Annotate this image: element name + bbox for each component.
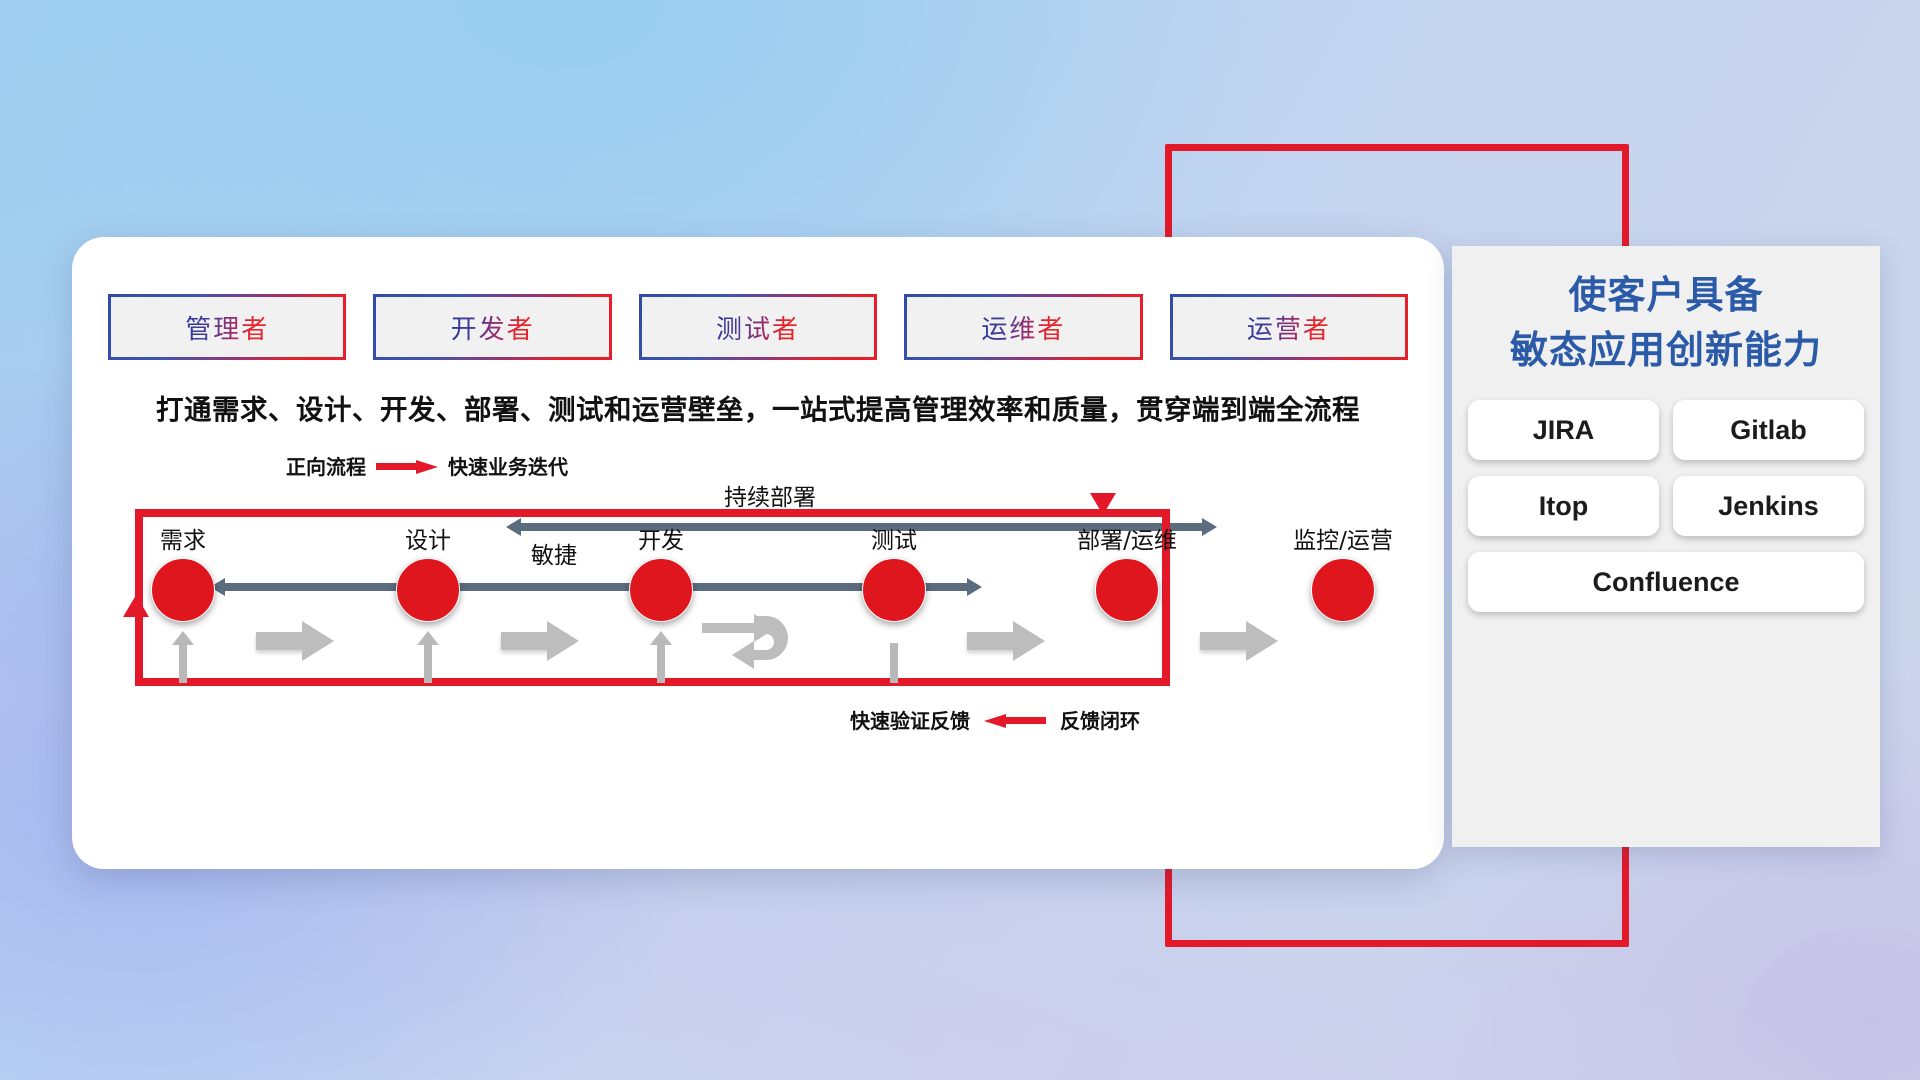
role-box-tester[interactable]: 测试者 [639,294,877,360]
role-label: 运维者 [981,309,1065,346]
role-label: 测试者 [716,309,800,346]
stage-label: 需求 [128,521,238,555]
tool-chip-jenkins[interactable]: Jenkins [1673,476,1864,536]
stage-stem-icon [890,643,898,683]
role-box-row: 管理者 开发者 测试者 运维者 运营者 [108,294,1408,360]
role-label: 开发者 [451,309,535,346]
role-box-developer[interactable]: 开发者 [373,294,611,360]
stage-label: 部署/运维 [1072,521,1182,555]
stage-dot-icon [1311,558,1375,622]
legend-feedback-source-label: 反馈闭环 [1060,705,1140,734]
stage-label: 测试 [839,521,949,555]
role-box-manager[interactable]: 管理者 [108,294,346,360]
stage-requirements[interactable]: 需求 [128,521,238,622]
panel-title-line-1: 使客户具备 [1452,268,1880,323]
span-label-continuous-deployment: 持续部署 [724,478,816,512]
flow-arrow-3-icon [967,621,1045,661]
stage-dot-icon [629,558,693,622]
legend-forward-source-label: 正向流程 [286,451,366,480]
tool-chip-jira[interactable]: JIRA [1468,400,1659,460]
stage-stem-arrow-icon [179,643,187,683]
stage-label: 监控/运营 [1288,521,1398,555]
flow-arrow-2-icon [501,621,579,661]
tool-chip-itop[interactable]: Itop [1468,476,1659,536]
legend-forward-flow: 正向流程 快速业务迭代 [286,451,568,480]
stage-development[interactable]: 开发 [606,521,716,622]
stage-monitor-operations[interactable]: 监控/运营 [1288,521,1398,622]
tool-chip-list: JIRA Gitlab Itop Jenkins Confluence [1468,400,1864,612]
role-label: 运营者 [1247,309,1331,346]
role-box-operator[interactable]: 运营者 [1170,294,1408,360]
tool-chip-gitlab[interactable]: Gitlab [1673,400,1864,460]
pipeline-loop-down-arrow-icon [1090,493,1116,515]
stage-dot-icon [396,558,460,622]
role-label: 管理者 [185,309,269,346]
stage-stem-arrow-icon [424,643,432,683]
stage-stem-arrow-icon [657,643,665,683]
value-proposition-panel: 使客户具备 敏态应用创新能力 JIRA Gitlab Itop Jenkins … [1452,246,1880,847]
stage-testing[interactable]: 测试 [839,521,949,622]
arrow-right-icon [376,460,438,472]
loop-back-icon [700,613,796,675]
stage-dot-icon [862,558,926,622]
stage-label: 开发 [606,521,716,555]
legend-feedback-target-label: 快速验证反馈 [850,705,970,734]
panel-title-line-2: 敏态应用创新能力 [1452,323,1880,378]
pipeline-stages: 需求 设计 开发 测试 部署/运维 [128,521,1398,681]
stage-deploy-ops[interactable]: 部署/运维 [1072,521,1182,622]
tool-chip-confluence[interactable]: Confluence [1468,552,1864,612]
stage-dot-icon [1095,558,1159,622]
legend-forward-target-label: 快速业务迭代 [448,451,568,480]
flow-arrow-4-icon [1200,621,1278,661]
stage-label: 设计 [373,521,483,555]
panel-title: 使客户具备 敏态应用创新能力 [1452,246,1880,378]
stage-design[interactable]: 设计 [373,521,483,622]
stage-dot-icon [151,558,215,622]
main-white-card: 管理者 开发者 测试者 运维者 运营者 打通需求、设计、开发、部署、测试和运营壁… [72,237,1444,869]
arrow-left-icon [984,714,1046,726]
headline-text: 打通需求、设计、开发、部署、测试和运营壁垒，一站式提高管理效率和质量，贯穿端到端… [72,387,1444,427]
role-box-ops[interactable]: 运维者 [904,294,1142,360]
legend-feedback-loop: 快速验证反馈 反馈闭环 [850,705,1140,734]
flow-arrow-1-icon [256,621,334,661]
